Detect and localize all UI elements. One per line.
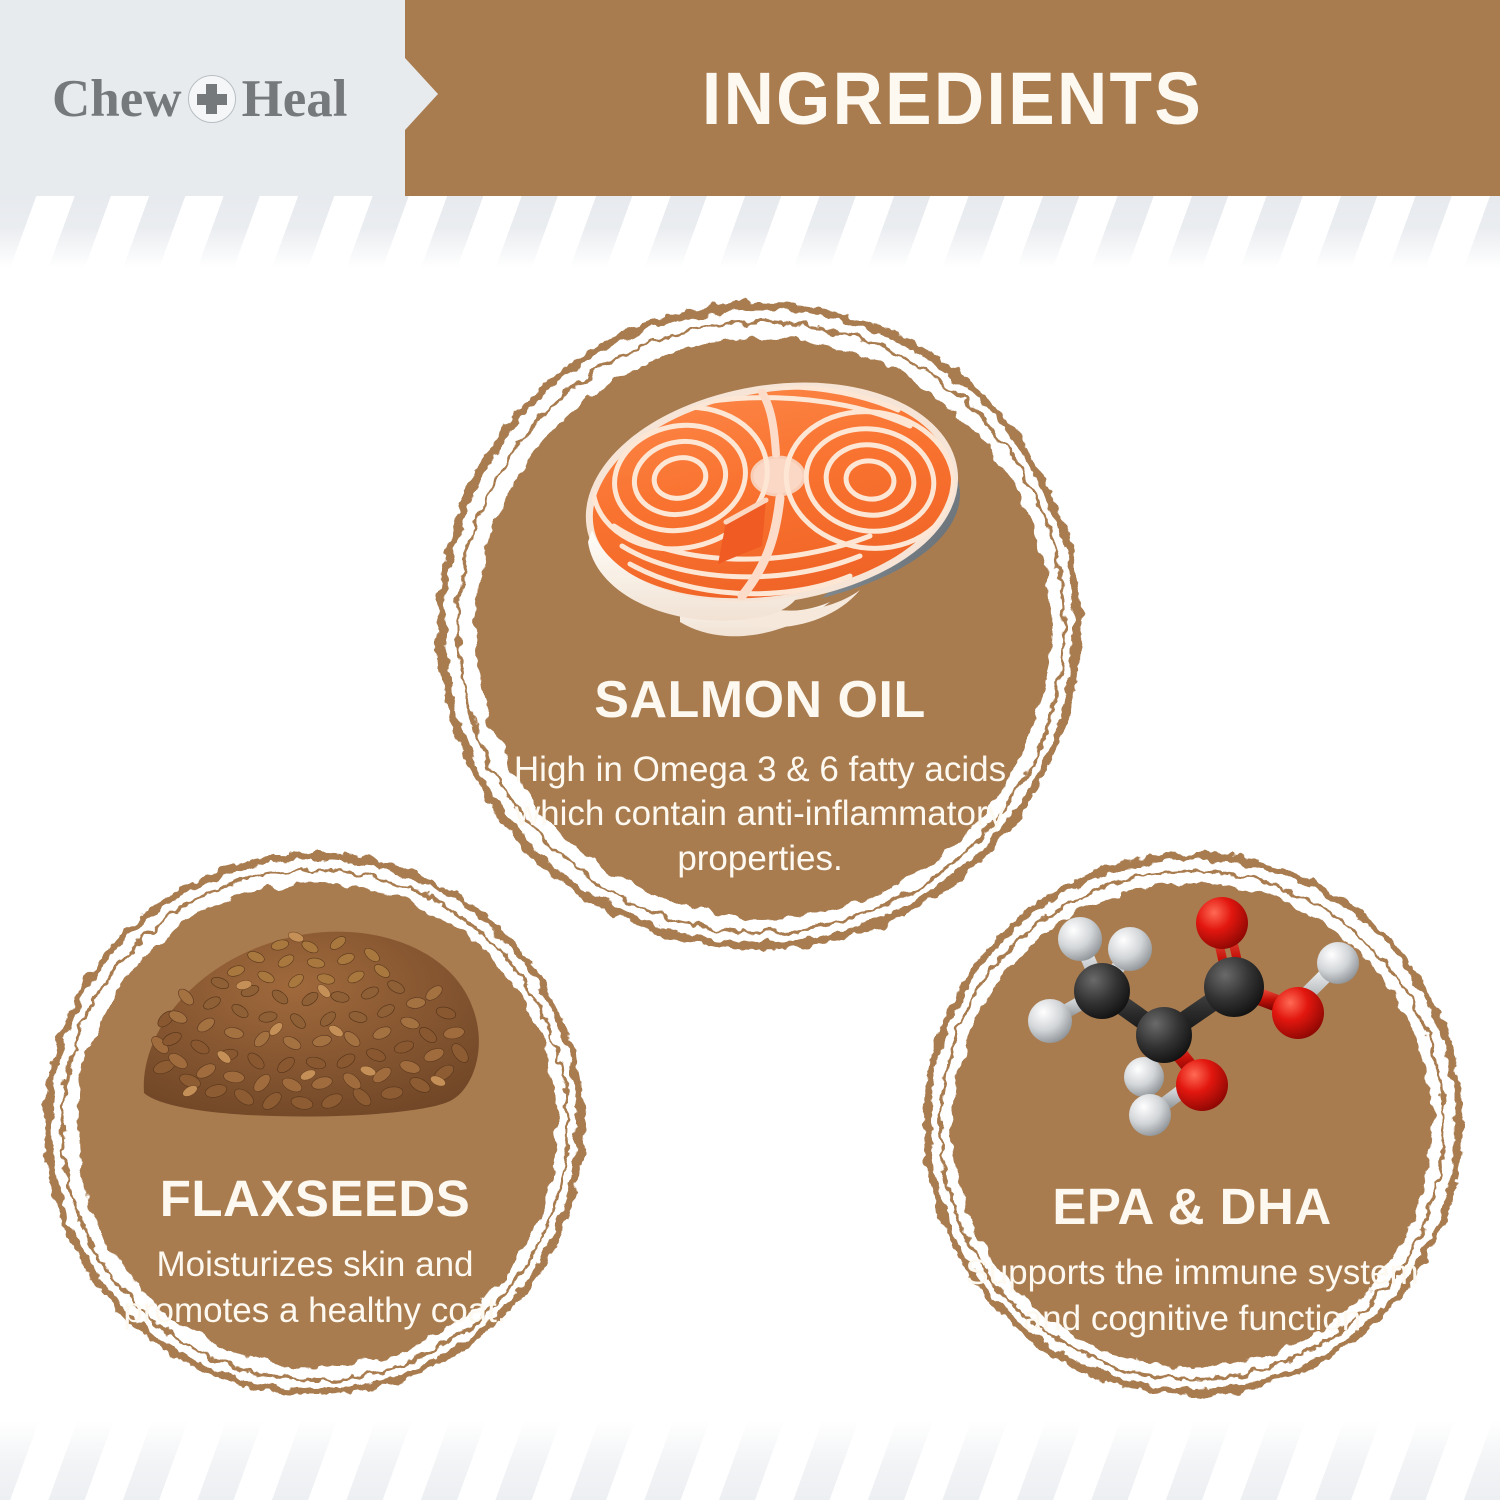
atom-hydrogen bbox=[1108, 927, 1152, 971]
ingredient-title: SALMON OIL bbox=[594, 674, 925, 726]
molecule-model-image bbox=[1002, 887, 1382, 1137]
ingredient-card-epa-dha[interactable]: EPA & DHA Supports the immune system and… bbox=[912, 845, 1472, 1405]
brand-logo[interactable]: Chew Heal bbox=[52, 68, 348, 130]
ingredient-description: Supports the immune system and cognitive… bbox=[952, 1250, 1432, 1341]
atom-hydrogen bbox=[1317, 942, 1359, 984]
atom-carbon bbox=[1136, 1007, 1192, 1063]
plus-horizontal-bar bbox=[197, 94, 227, 105]
atom-oxygen bbox=[1176, 1059, 1228, 1111]
salmon-steak-image bbox=[530, 350, 990, 660]
salmon-flesh bbox=[579, 386, 962, 602]
ingredient-title: EPA & DHA bbox=[1052, 1181, 1331, 1232]
atom-hydrogen bbox=[1124, 1057, 1164, 1097]
atom-carbon bbox=[1074, 963, 1130, 1019]
diagonal-stripes-top bbox=[0, 196, 1500, 268]
atom-carbon bbox=[1204, 957, 1264, 1017]
atom-oxygen bbox=[1196, 897, 1248, 949]
page-title: INGREDIENTS bbox=[438, 0, 1467, 196]
ingredient-title: FLAXSEEDS bbox=[160, 1173, 471, 1224]
brand-logo-word-chew: Chew bbox=[52, 73, 182, 126]
page-header: INGREDIENTS Chew Heal bbox=[0, 0, 1500, 196]
atom-hydrogen bbox=[1058, 917, 1102, 961]
flaxseeds-image bbox=[120, 885, 510, 1135]
atom-hydrogen bbox=[1028, 999, 1072, 1043]
ingredient-description: Moisturizes skin and promotes a healthy … bbox=[105, 1242, 525, 1333]
atom-oxygen bbox=[1272, 987, 1324, 1039]
ingredient-card-flaxseeds[interactable]: FLAXSEEDS Moisturizes skin and promotes … bbox=[35, 845, 595, 1405]
plus-circle-icon bbox=[188, 75, 236, 123]
brand-logo-word-heal: Heal bbox=[242, 73, 348, 126]
atom-hydrogen bbox=[1129, 1094, 1171, 1136]
